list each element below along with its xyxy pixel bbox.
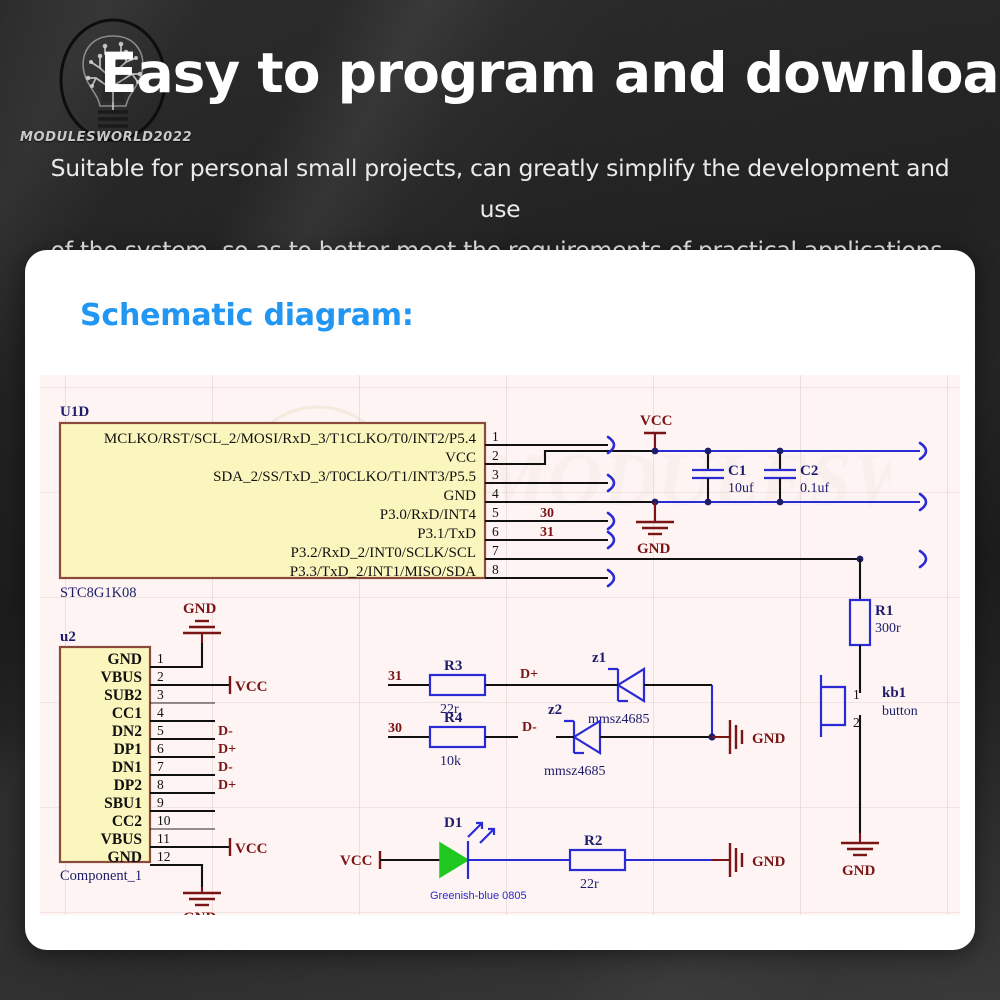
d1-designator: D1	[444, 815, 462, 831]
kb1-pin-1-number: 1	[853, 687, 860, 702]
gnd-label-led: GND	[752, 854, 786, 870]
u2-pin-7-name: DN1	[112, 759, 142, 776]
u1d-pin-2-wire	[485, 451, 655, 464]
u2-pin-5-name: DN2	[112, 723, 142, 740]
u2-pin-4-name: CC1	[112, 705, 142, 722]
connector-u2: u2 Component_1 GND VBUS SUB2 CC1 DN2 DP1…	[60, 601, 268, 915]
dplus-net-label: D+	[520, 667, 538, 682]
u1d-pin-4-number: 4	[492, 486, 499, 501]
port-u1d-pin-6[interactable]	[608, 532, 614, 548]
u2-pin-6-number: 6	[157, 741, 164, 756]
u2-pin-12-number: 12	[157, 849, 171, 864]
decoupling-network: VCC C1 10uf C2 0.1uf	[636, 413, 926, 567]
schematic-canvas: U1D STC8G1K08 MCLKO/RST/SCL_2/MOSI/RxD_3…	[40, 375, 960, 915]
vcc-rail-junction	[652, 448, 659, 455]
u2-pin-11-net-label: VCC	[235, 841, 268, 857]
d1-anode-triangle	[440, 843, 468, 877]
c2-value: 0.1uf	[800, 481, 830, 496]
u1d-pin-5-net-label: 30	[540, 506, 554, 521]
u2-pin-4-number: 4	[157, 705, 164, 720]
u2-pin-12-name: GND	[108, 849, 142, 866]
port-gnd-rail[interactable]	[920, 494, 926, 510]
d1-emission-arrows	[468, 823, 494, 843]
c1-designator: C1	[728, 463, 746, 479]
u1d-pin-3-number: 3	[492, 467, 499, 482]
u2-pin-8-number: 8	[157, 777, 164, 792]
u1d-pin-5-name: P3.0/RxD/INT4	[380, 507, 477, 523]
r2-designator: R3	[444, 658, 462, 674]
u1d-pin-4-name: GND	[444, 488, 477, 504]
u2-pin-11-name: VBUS	[101, 831, 142, 848]
u2-pin-12-wire	[150, 865, 202, 887]
u1d-pin-2-number: 2	[492, 448, 499, 463]
connector-u2-designator: u2	[60, 629, 76, 645]
kb1-plunger[interactable]	[821, 687, 845, 725]
r4-body	[570, 850, 625, 870]
u2-gnd-top-label: GND	[183, 601, 217, 617]
r3-designator: R4	[444, 710, 463, 726]
u1d-pin-7-number: 7	[492, 543, 499, 558]
led-indicator-network: VCC D1 Greenish-blue 0805 R2	[340, 815, 786, 902]
c2-junction-bottom	[777, 499, 784, 506]
r1-value: 300r	[875, 621, 901, 636]
gnd-label-middle: GND	[752, 731, 786, 747]
u2-pin-7-number: 7	[157, 759, 164, 774]
r4-designator: R2	[584, 833, 602, 849]
u1d-pin-3-name: SDA_2/SS/TxD_3/T0CLKO/T1/INT3/P5.5	[213, 469, 476, 485]
r3-value: 10k	[440, 754, 461, 769]
r1-designator: R1	[875, 603, 893, 619]
u2-pin-5-net-label: D-	[218, 724, 233, 739]
gnd-label-decoupling: GND	[637, 541, 671, 557]
c1-junction-bottom	[705, 499, 712, 506]
u1d-pin-6-net-label: 31	[540, 525, 554, 540]
r3-body	[430, 727, 485, 747]
u1d-pin-2-name: VCC	[445, 450, 476, 466]
kb1-value: button	[882, 704, 918, 719]
vcc-label-top: VCC	[640, 413, 673, 429]
page-title: Schematic diagram:	[80, 298, 414, 333]
u1d-pin-7-name: P3.2/RxD_2/INT0/SCLK/SCL	[291, 545, 476, 561]
r4-value: 22r	[580, 877, 599, 892]
u2-pin-5-number: 5	[157, 723, 164, 738]
u2-pin-10-name: CC2	[112, 813, 142, 830]
u2-pin-9-number: 9	[157, 795, 164, 810]
u1d-pin-6-name: P3.1/TxD	[417, 526, 476, 542]
kb1-designator: kb1	[882, 685, 906, 701]
port-u1d-pin-8[interactable]	[608, 570, 614, 586]
connector-u2-partnumber: Component_1	[60, 868, 142, 884]
content-card: Schematic diagram:	[25, 250, 975, 950]
u2-pin-8-net-label: D+	[218, 778, 236, 793]
u1d-pin-1-number: 1	[492, 429, 499, 444]
led-vcc-label: VCC	[340, 853, 373, 869]
z2-designator: z2	[548, 702, 562, 718]
brand-watermark-text: MODULESWORLD2022	[20, 130, 192, 145]
c1-value: 10uf	[728, 481, 754, 496]
u2-pin-2-number: 2	[157, 669, 164, 684]
chip-u1d-partnumber: STC8G1K08	[60, 585, 137, 601]
header-banner: Easy to program and download MODULESWORL…	[0, 0, 1000, 250]
u1d-pin-8-name: P3.3/TxD_2/INT1/MISO/SDA	[290, 564, 476, 580]
schematic-diagram: MODULESWORLD2022 U1D STC8G1K08 MCLKO/RST…	[40, 375, 960, 915]
u2-pin-3-name: SUB2	[104, 687, 142, 704]
port-u1d-pin-3[interactable]	[608, 475, 614, 491]
port-u1d-pin-5[interactable]	[608, 513, 614, 529]
button-network: R1 300r 1 2 kb1 button GND	[821, 556, 918, 879]
u2-gnd-bottom-label: GND	[183, 910, 217, 915]
chip-u1d-designator: U1D	[60, 404, 89, 420]
c2-designator: C2	[800, 463, 818, 479]
d1-value: Greenish-blue 0805	[430, 890, 527, 902]
c1-junction-top	[705, 448, 712, 455]
net-30-label: 30	[388, 721, 402, 736]
gnd-label-right: GND	[842, 863, 876, 879]
z1-anode-triangle	[618, 669, 644, 701]
u2-pin-10-number: 10	[157, 813, 171, 828]
u2-pin-2-name: VBUS	[101, 669, 142, 686]
z1-value: mmsz4685	[588, 712, 649, 727]
u2-pin-9-name: SBU1	[104, 795, 142, 812]
u1d-pin-6-number: 6	[492, 524, 499, 539]
u1d-pin-5-number: 5	[492, 505, 499, 520]
u2-pin-6-net-label: D+	[218, 742, 236, 757]
u2-pin-7-net-label: D-	[218, 760, 233, 775]
u2-pin-6-name: DP1	[114, 741, 142, 758]
port-pin7-rail[interactable]	[920, 551, 926, 567]
u2-pin-11-number: 11	[157, 831, 170, 846]
usb-protection-network: 31 R3 22r D+ z1 mmsz4685 30	[388, 650, 786, 779]
u2-pin-1-name: GND	[108, 651, 142, 668]
z1-designator: z1	[592, 650, 606, 666]
dminus-net-label: D-	[522, 720, 537, 735]
u2-pin-8-name: DP2	[114, 777, 143, 794]
u1d-pin-8-number: 8	[492, 562, 499, 577]
headline: Easy to program and download	[100, 40, 960, 106]
subheadline-line-1: Suitable for personal small projects, ca…	[51, 154, 950, 223]
z2-value: mmsz4685	[544, 764, 605, 779]
r1-body	[850, 600, 870, 645]
kb1-pin-2-number: 2	[853, 715, 860, 730]
u2-pin-2-net-label: VCC	[235, 679, 268, 695]
u1d-pin-1-name: MCLKO/RST/SCL_2/MOSI/RxD_3/T1CLKO/T0/INT…	[104, 431, 477, 447]
u2-pin-1-number: 1	[157, 651, 164, 666]
u2-pin-3-number: 3	[157, 687, 164, 702]
net-31-label: 31	[388, 669, 402, 684]
port-vcc-rail[interactable]	[920, 443, 926, 459]
r2-body	[430, 675, 485, 695]
c2-junction-top	[777, 448, 784, 455]
